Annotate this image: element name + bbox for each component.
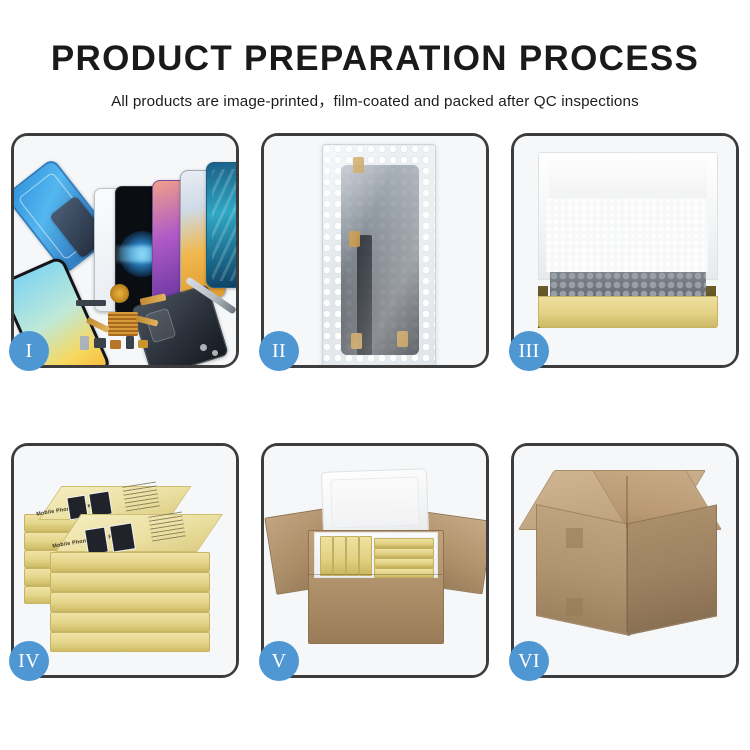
small-chip-e [138,340,148,348]
shield-grid-part [108,312,138,336]
page-title: PRODUCT PREPARATION PROCESS [0,0,750,78]
stack-back-spec-lines [122,482,160,513]
step-badge-4: IV [9,641,49,681]
screw-part-a [200,344,207,351]
packed-box-2 [333,536,346,576]
step-5-image [264,446,486,675]
step-badge-5: V [259,641,299,681]
inner-box-front-panel [538,296,718,328]
step-badge-3: III [509,331,549,371]
step-badge-2: II [259,331,299,371]
header: PRODUCT PREPARATION PROCESS All products… [0,0,750,111]
stack-front-spec-lines [148,512,186,543]
carton-tape-upper [566,528,583,548]
process-step-5[interactable]: V [261,443,489,678]
foam-sheet [546,198,708,272]
stack-edge-f-4 [50,612,210,632]
packed-box-4 [359,536,372,576]
screw-part-b [212,350,218,356]
box-stack: Mobile Phone Spare Parts Mobile Phone Sp… [22,470,222,660]
packed-box-flat-2 [374,548,434,558]
carton-corner-seam [626,524,628,632]
carton-fold-line [308,574,442,575]
process-step-6[interactable]: VI [511,443,739,678]
components-and-screens-scene [14,136,236,365]
carton-packing-scene [264,446,486,675]
process-step-2[interactable]: II [261,133,489,368]
bag-gloss-highlight [323,145,435,365]
process-step-1[interactable]: I [11,133,239,368]
carton-side-face [627,504,717,635]
bubble-wrapped-screen-scene [264,136,486,365]
carton-front-face [536,504,630,636]
small-chip-c [110,340,121,349]
stack-edge-f-5 [50,632,210,652]
carton-top-seam [626,476,628,528]
carton-tape-lower [566,598,583,616]
bubble-wrapped-contents [550,272,706,298]
stacked-inner-boxes-scene: Mobile Phone Spare Parts Mobile Phone Sp… [14,446,236,675]
process-step-3[interactable]: III [511,133,739,368]
stack-edge-f-3 [50,592,210,612]
foam-lined-inner-box-scene [514,136,736,365]
antenna-strip-part [76,300,106,306]
step-badge-6: VI [509,641,549,681]
process-step-grid: I II [11,133,740,678]
speaker-coil-part [110,284,129,303]
teal-gradient-phone [206,162,236,288]
packed-box-flat-3 [374,558,434,568]
stack-front-box-top [55,514,223,552]
small-chip-a [80,336,89,350]
bubble-wrap-bag [322,144,436,365]
packed-box-flat-1 [374,538,434,548]
small-chip-b [94,338,106,348]
small-chip-d [126,336,134,349]
stack-front-screen-b [109,522,136,552]
packed-box-3 [346,536,359,576]
step-2-image [264,136,486,365]
step-6-image [514,446,736,675]
stack-edge-f-2 [50,572,210,592]
stack-edge-f-1 [50,552,210,572]
sealed-shipping-carton-scene [514,446,736,675]
step-badge-1: I [9,331,49,371]
packed-box-flat-4 [374,568,434,578]
step-3-image [514,136,736,365]
packed-box-1 [320,536,333,576]
step-4-image: Mobile Phone Spare Parts Mobile Phone Sp… [14,446,236,675]
process-step-4[interactable]: Mobile Phone Spare Parts Mobile Phone Sp… [11,443,239,678]
step-1-image [14,136,236,365]
page-subtitle: All products are image-printed，film-coat… [0,78,750,111]
